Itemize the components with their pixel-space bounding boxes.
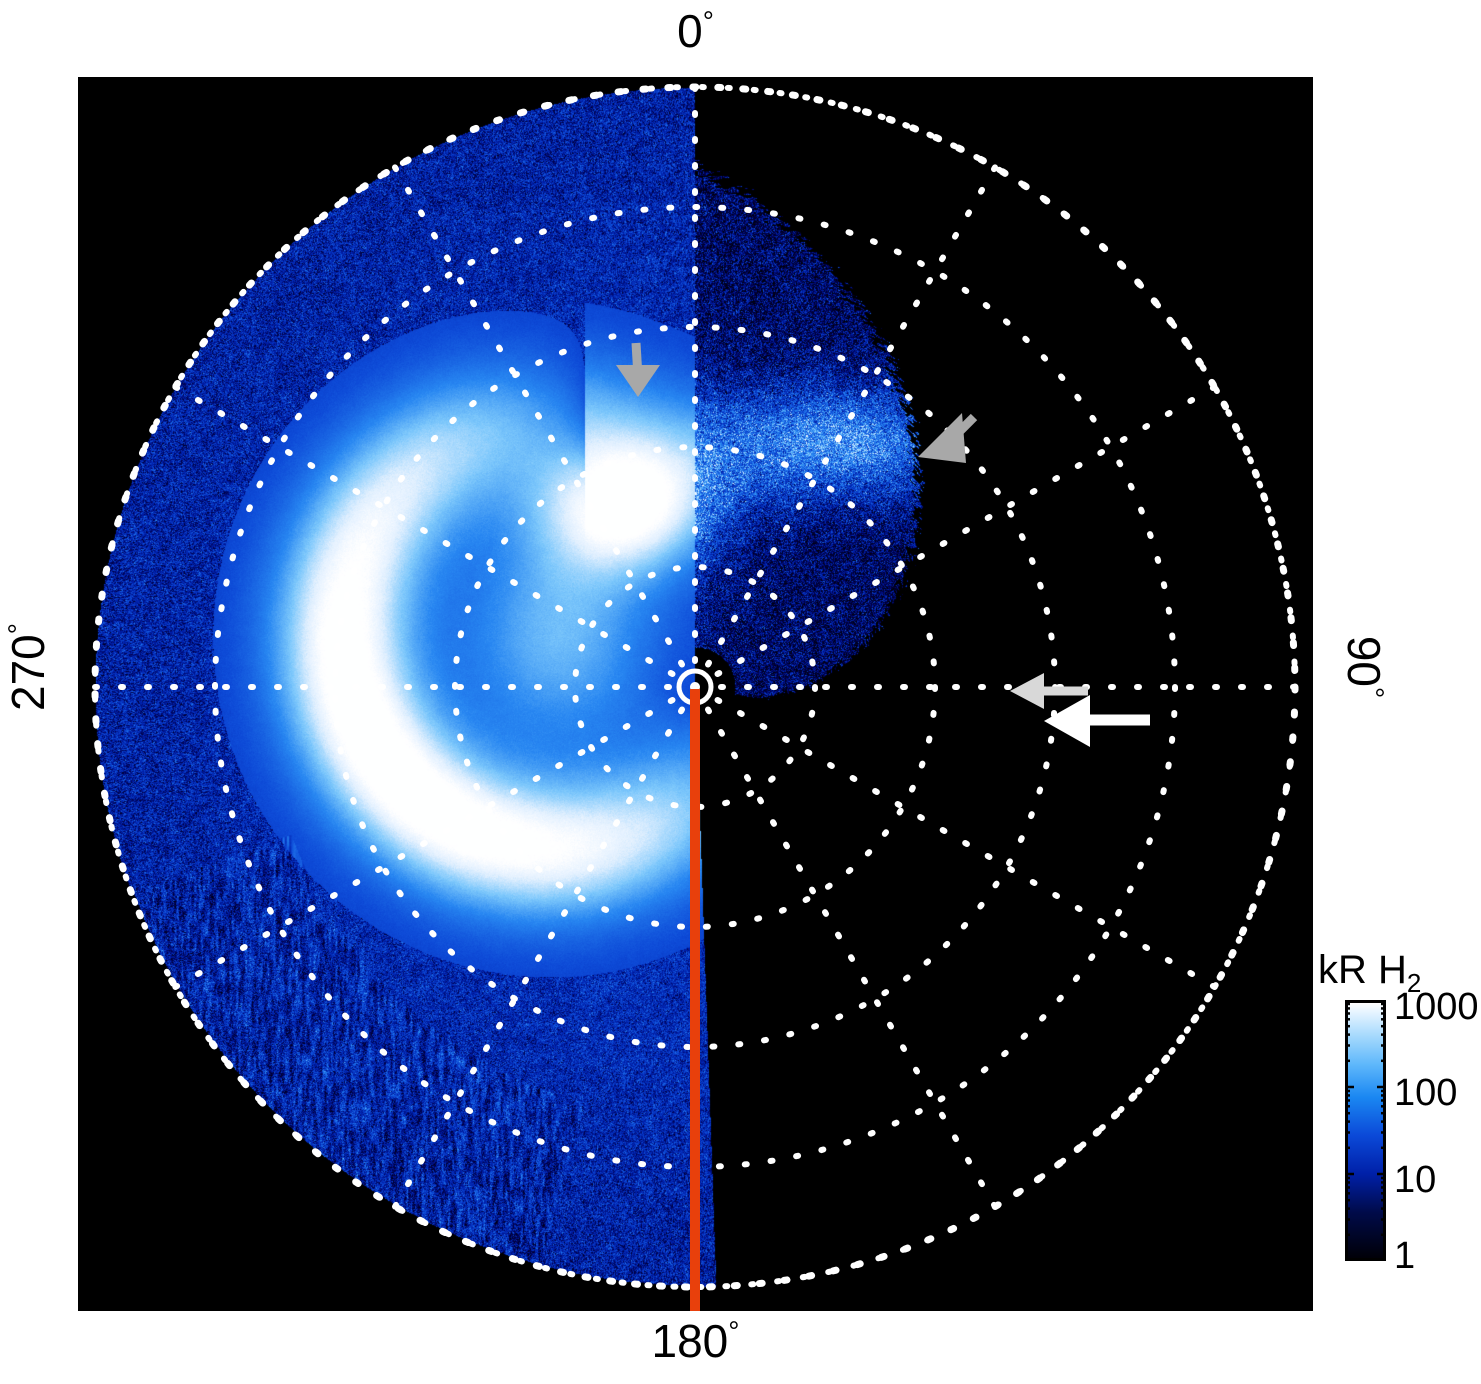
gray-arrow-dawn-edge	[918, 413, 974, 463]
polar-plot-area	[78, 77, 1313, 1311]
angle-label-270-value: 270	[2, 634, 54, 711]
degree-symbol: °	[3, 623, 34, 634]
colorbar-tick-1000: 1000	[1394, 988, 1479, 1026]
degree-symbol: °	[1358, 687, 1389, 698]
colorbar-title: kR H2	[1318, 950, 1421, 990]
angle-label-180: 180°	[0, 1318, 1391, 1364]
angle-label-90: 90°	[1341, 597, 1387, 737]
degree-symbol: °	[703, 6, 714, 37]
degree-symbol: °	[728, 1316, 739, 1347]
figure-root: 0° 180° 270° 90°	[0, 0, 1481, 1384]
grid-and-annotation-overlay	[78, 77, 1313, 1311]
angle-label-90-value: 90	[1338, 636, 1390, 687]
colorbar-tick-10: 10	[1394, 1161, 1436, 1199]
colorbar-tick-100: 100	[1394, 1074, 1457, 1112]
colorbar-tick-marks	[1345, 1000, 1386, 1261]
angle-label-270: 270°	[5, 597, 51, 737]
angle-label-0: 0°	[0, 8, 1391, 54]
colorbar: kR H2 1000 100 10 1	[1318, 950, 1481, 1325]
white-arrow-lower	[1044, 695, 1150, 747]
angle-label-0-value: 0	[677, 5, 703, 57]
gray-arrow-inner-oval	[616, 343, 660, 397]
colorbar-tick-1: 1	[1394, 1237, 1415, 1275]
angle-label-180-value: 180	[652, 1315, 729, 1367]
